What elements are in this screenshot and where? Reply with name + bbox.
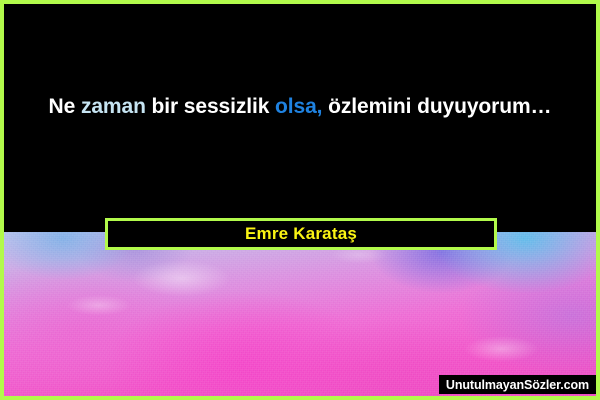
quote-text: Ne zaman bir sessizlik olsa, özlemini du… <box>40 92 560 122</box>
quote-segment-highlight-olsa: olsa, <box>275 95 322 118</box>
quote-card: Ne zaman bir sessizlik olsa, özlemini du… <box>0 0 600 400</box>
quote-segment-3: bir sessizlik <box>146 95 275 118</box>
watercolor-background <box>4 228 596 396</box>
quote-segment-5: özlemini duyuyorum… <box>322 95 551 118</box>
quote-segment-highlight-zaman: zaman <box>81 95 146 118</box>
watermark: UnutulmayanSözler.com <box>439 375 596 394</box>
author-plate: Emre Karataş <box>105 218 497 250</box>
quote-segment-1: Ne <box>49 95 81 118</box>
watercolor-wash-highlights <box>4 228 596 396</box>
author-name: Emre Karataş <box>245 224 357 244</box>
quote-panel: Ne zaman bir sessizlik olsa, özlemini du… <box>4 4 596 232</box>
watermark-text: UnutulmayanSözler.com <box>446 378 589 392</box>
